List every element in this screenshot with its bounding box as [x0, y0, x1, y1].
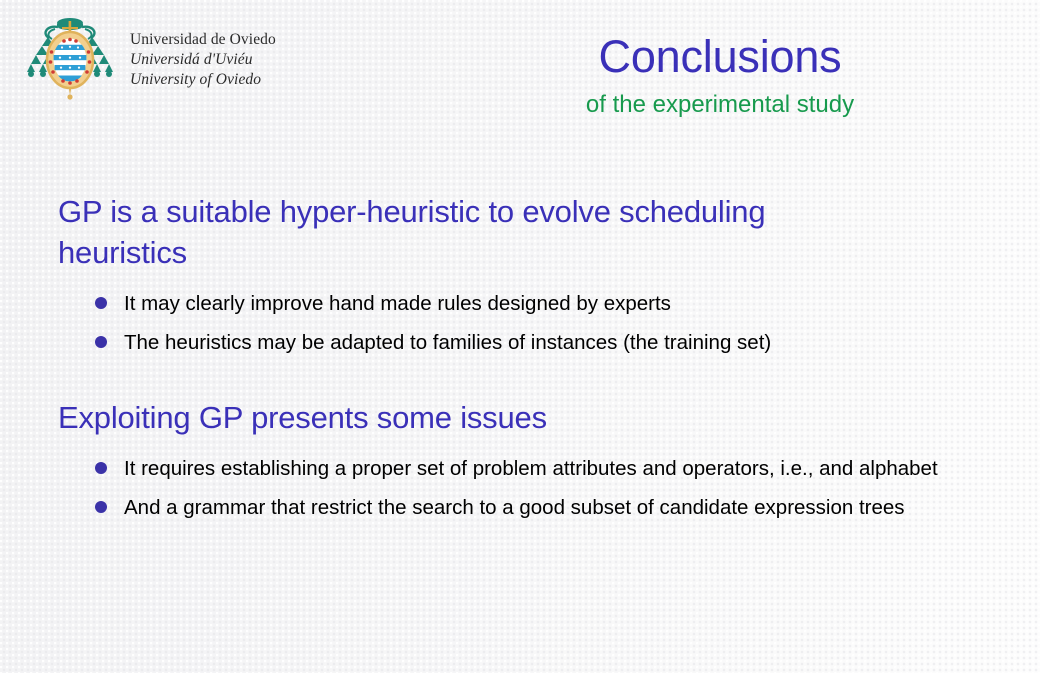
bullet-text: And a grammar that restrict the search t…: [124, 494, 988, 521]
slide-body: GP is a suitable hyper-heuristic to evol…: [58, 192, 988, 524]
list-item: It may clearly improve hand made rules d…: [58, 290, 988, 317]
slide-subtitle: of the experimental study: [420, 93, 1020, 117]
institution-name-text: Universidad de Oviedo Universidá d'Uviéu…: [130, 30, 276, 89]
bullet-dot-icon: [95, 336, 107, 348]
slide-title-block: Conclusions of the experimental study: [420, 34, 1020, 117]
bullet-dot-icon: [95, 297, 107, 309]
institution-name-ast: Universidá d'Uviéu: [130, 50, 276, 70]
bullet-list-1: It may clearly improve hand made rules d…: [58, 290, 988, 357]
list-item: And a grammar that restrict the search t…: [58, 494, 988, 521]
bullet-dot-icon: [95, 462, 107, 474]
list-item: It requires establishing a proper set of…: [58, 455, 988, 482]
content-section-2: Exploiting GP presents some issues It re…: [58, 398, 988, 521]
university-crest-icon: [22, 14, 118, 106]
content-section-1: GP is a suitable hyper-heuristic to evol…: [58, 192, 988, 356]
slide-title: Conclusions: [420, 34, 1020, 79]
bullet-list-2: It requires establishing a proper set of…: [58, 455, 988, 522]
bullet-text: The heuristics may be adapted to familie…: [124, 329, 988, 356]
bullet-dot-icon: [95, 501, 107, 513]
section-heading-1: GP is a suitable hyper-heuristic to evol…: [58, 192, 898, 274]
institution-name-en: University of Oviedo: [130, 70, 276, 90]
presentation-slide: Universidad de Oviedo Universidá d'Uviéu…: [0, 0, 1040, 673]
list-item: The heuristics may be adapted to familie…: [58, 329, 988, 356]
institution-name-es: Universidad de Oviedo: [130, 30, 276, 50]
bullet-text: It may clearly improve hand made rules d…: [124, 290, 988, 317]
section-heading-2: Exploiting GP presents some issues: [58, 398, 988, 439]
institution-logo-block: Universidad de Oviedo Universidá d'Uviéu…: [22, 14, 276, 106]
bullet-text: It requires establishing a proper set of…: [124, 455, 988, 482]
